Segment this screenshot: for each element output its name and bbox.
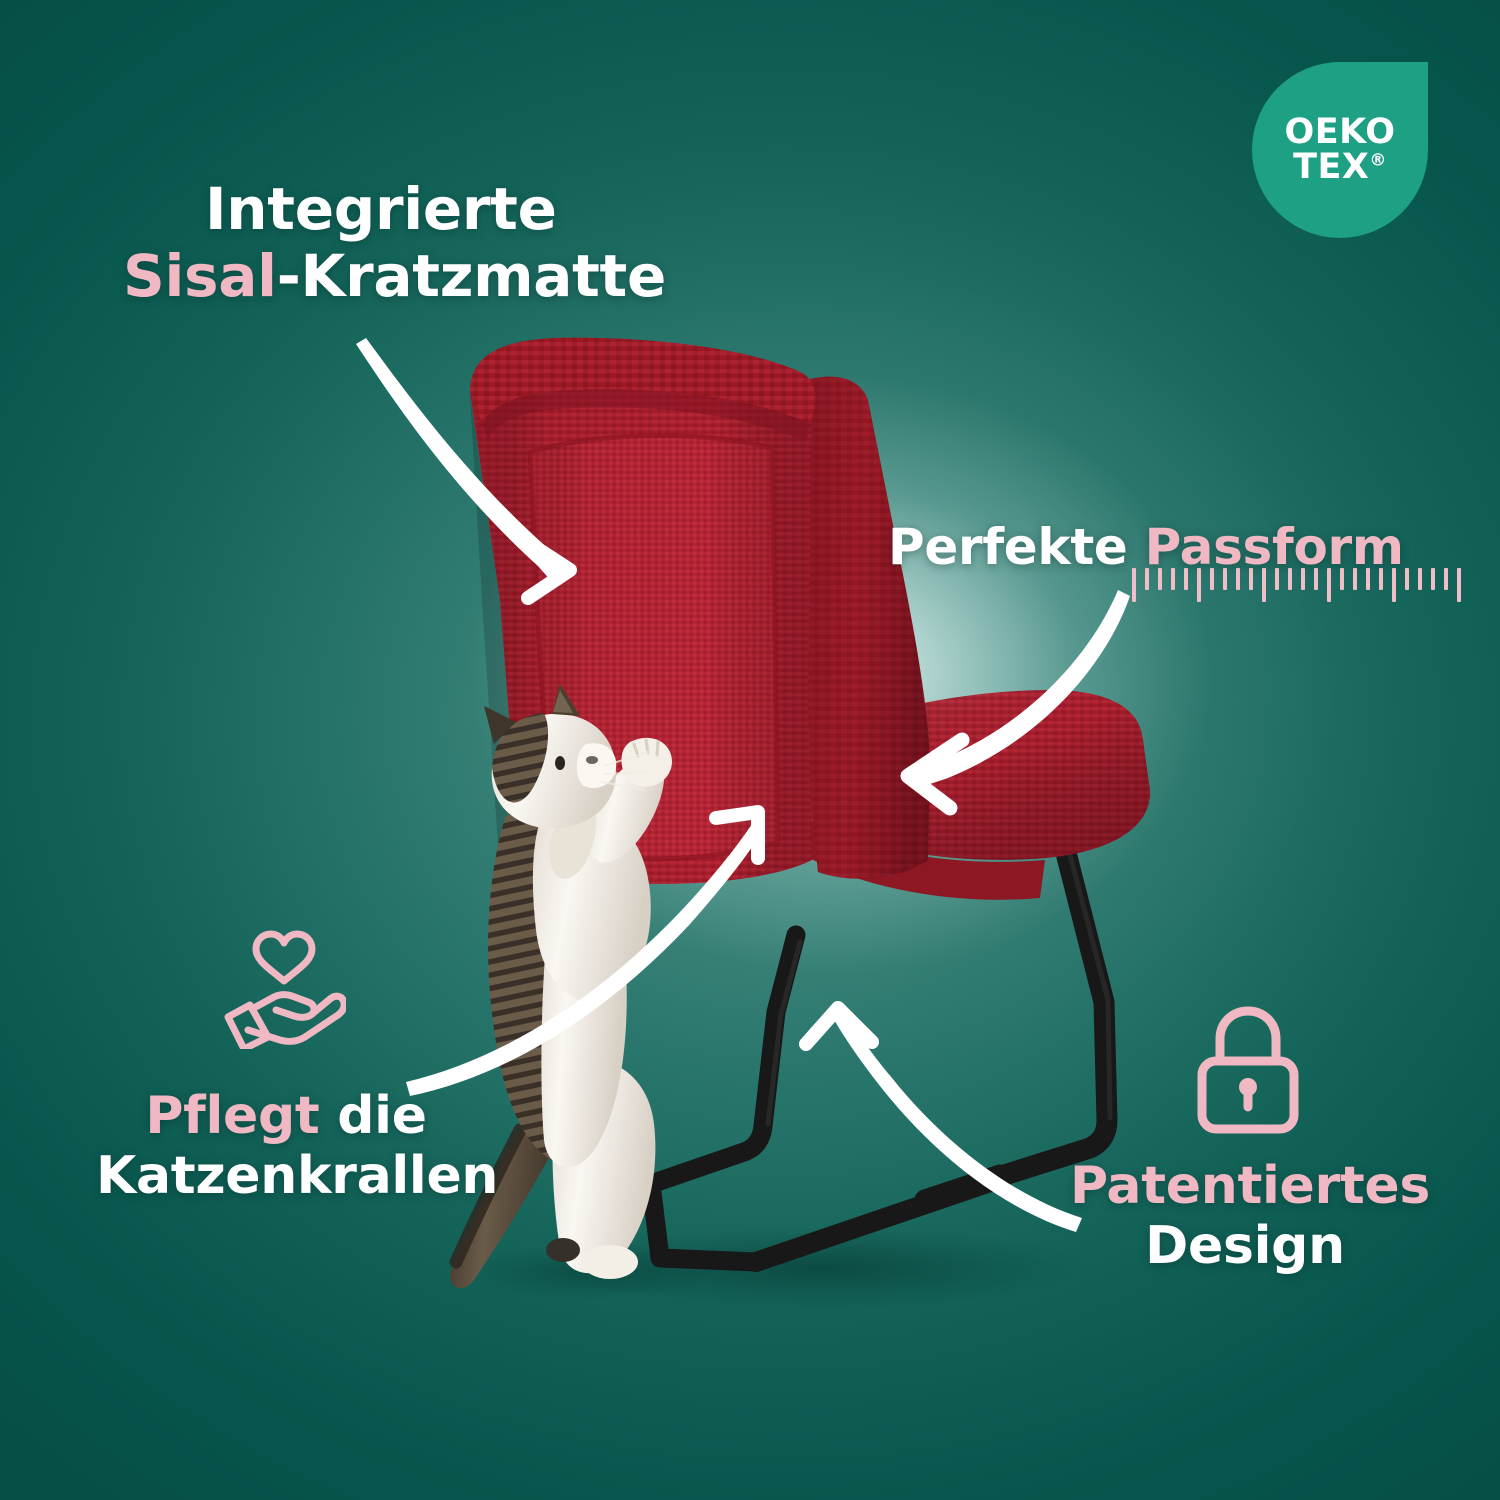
callout-sisal-kratzmatte: Integrierte Sisal-Kratzmatte	[205, 176, 666, 311]
callout-krallen-line2: Katzenkrallen	[96, 1146, 476, 1206]
badge-tex-text: TEX	[1293, 147, 1369, 187]
callout-krallen-w3: Katzenkrallen	[96, 1146, 498, 1206]
callout-design-w2: Design	[1145, 1216, 1345, 1276]
callout-design-line1: Patentiertes	[1070, 1156, 1420, 1216]
callout-sisal-line2: Sisal-Kratzmatte	[123, 243, 666, 310]
callout-design-line2: Design	[1070, 1216, 1420, 1276]
arrow-design	[806, 1008, 1082, 1232]
infographic-canvas: OEKO TEX® Integrierte Sisal-Kratzmatte P…	[0, 0, 1500, 1500]
callout-pflegt-katzenkrallen: Pflegt die Katzenkrallen	[96, 1086, 476, 1207]
callout-sisal-w2: Sisal	[123, 242, 277, 310]
ruler-ticks-icon	[1132, 568, 1470, 602]
callout-patentiertes-design: Patentiertes Design	[1070, 1156, 1420, 1277]
callout-passform-w1: Perfekte	[888, 518, 1145, 576]
callout-krallen-w2: die	[319, 1086, 426, 1146]
callout-sisal-line1: Integrierte	[205, 176, 666, 243]
oeko-tex-badge: OEKO TEX®	[1252, 62, 1428, 238]
callout-krallen-w1: Pflegt	[145, 1086, 319, 1146]
padlock-icon	[1192, 1005, 1304, 1139]
heart-in-hand-icon	[222, 925, 346, 1053]
callout-krallen-line1: Pflegt die	[96, 1086, 476, 1146]
callout-design-w1: Patentiertes	[1070, 1156, 1430, 1216]
arrow-krallen	[406, 812, 762, 1096]
arrow-passform	[908, 590, 1130, 808]
badge-line-oeko: OEKO	[1285, 115, 1396, 150]
arrow-sisal	[356, 338, 570, 598]
callout-sisal-w3: -Kratzmatte	[277, 242, 666, 310]
registered-mark-icon: ®	[1369, 150, 1387, 170]
badge-line-tex: TEX®	[1293, 150, 1387, 185]
callout-sisal-w1: Integrierte	[205, 175, 557, 243]
